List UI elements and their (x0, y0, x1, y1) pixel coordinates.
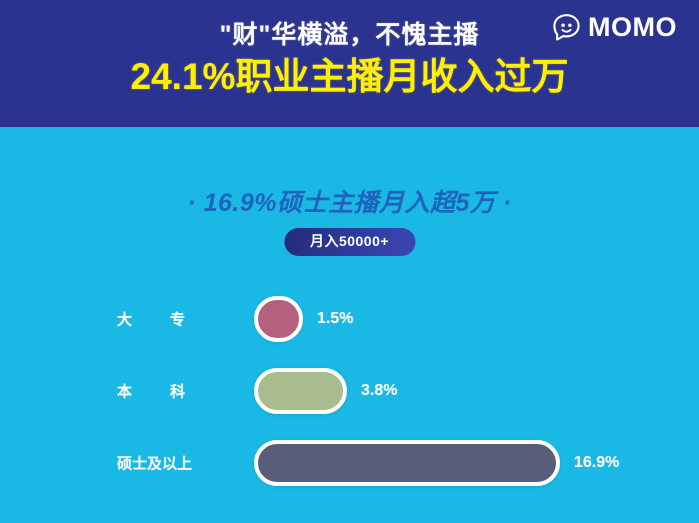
section-subtitle: · 16.9%硕士主播月入超5万 · (0, 183, 699, 219)
momo-logo: MOMO (552, 10, 677, 44)
chart-bar-track (254, 440, 560, 486)
bar-chart: 大专1.5%本科3.8%硕士及以上16.9% (0, 283, 699, 499)
infographic-root: "财"华横溢，不愧主播 24.1%职业主播月收入过万 MOMO · 16.9%硕… (0, 0, 699, 523)
chart-row: 硕士及以上16.9% (0, 427, 699, 499)
chart-row: 大专1.5% (0, 283, 699, 355)
chart-row-label: 本科 (117, 381, 239, 402)
momo-face-bubble-icon (552, 13, 581, 42)
header-headline: 24.1%职业主播月收入过万 (0, 57, 699, 98)
chart-bar-value: 1.5% (317, 310, 353, 328)
chart-bar (254, 368, 347, 414)
chart-bar (254, 440, 560, 486)
chart-row-label: 硕士及以上 (117, 453, 239, 474)
income-badge: 月入50000+ (284, 228, 415, 256)
chart-bar-value: 3.8% (361, 382, 397, 400)
chart-bar (254, 296, 303, 342)
momo-logo-text: MOMO (588, 14, 677, 41)
header-banner: "财"华横溢，不愧主播 24.1%职业主播月收入过万 MOMO (0, 0, 699, 127)
chart-bar-track (254, 368, 347, 414)
chart-bar-value: 16.9% (574, 454, 619, 472)
chart-row-label: 大专 (117, 309, 239, 330)
chart-bar-track (254, 296, 303, 342)
chart-row: 本科3.8% (0, 355, 699, 427)
